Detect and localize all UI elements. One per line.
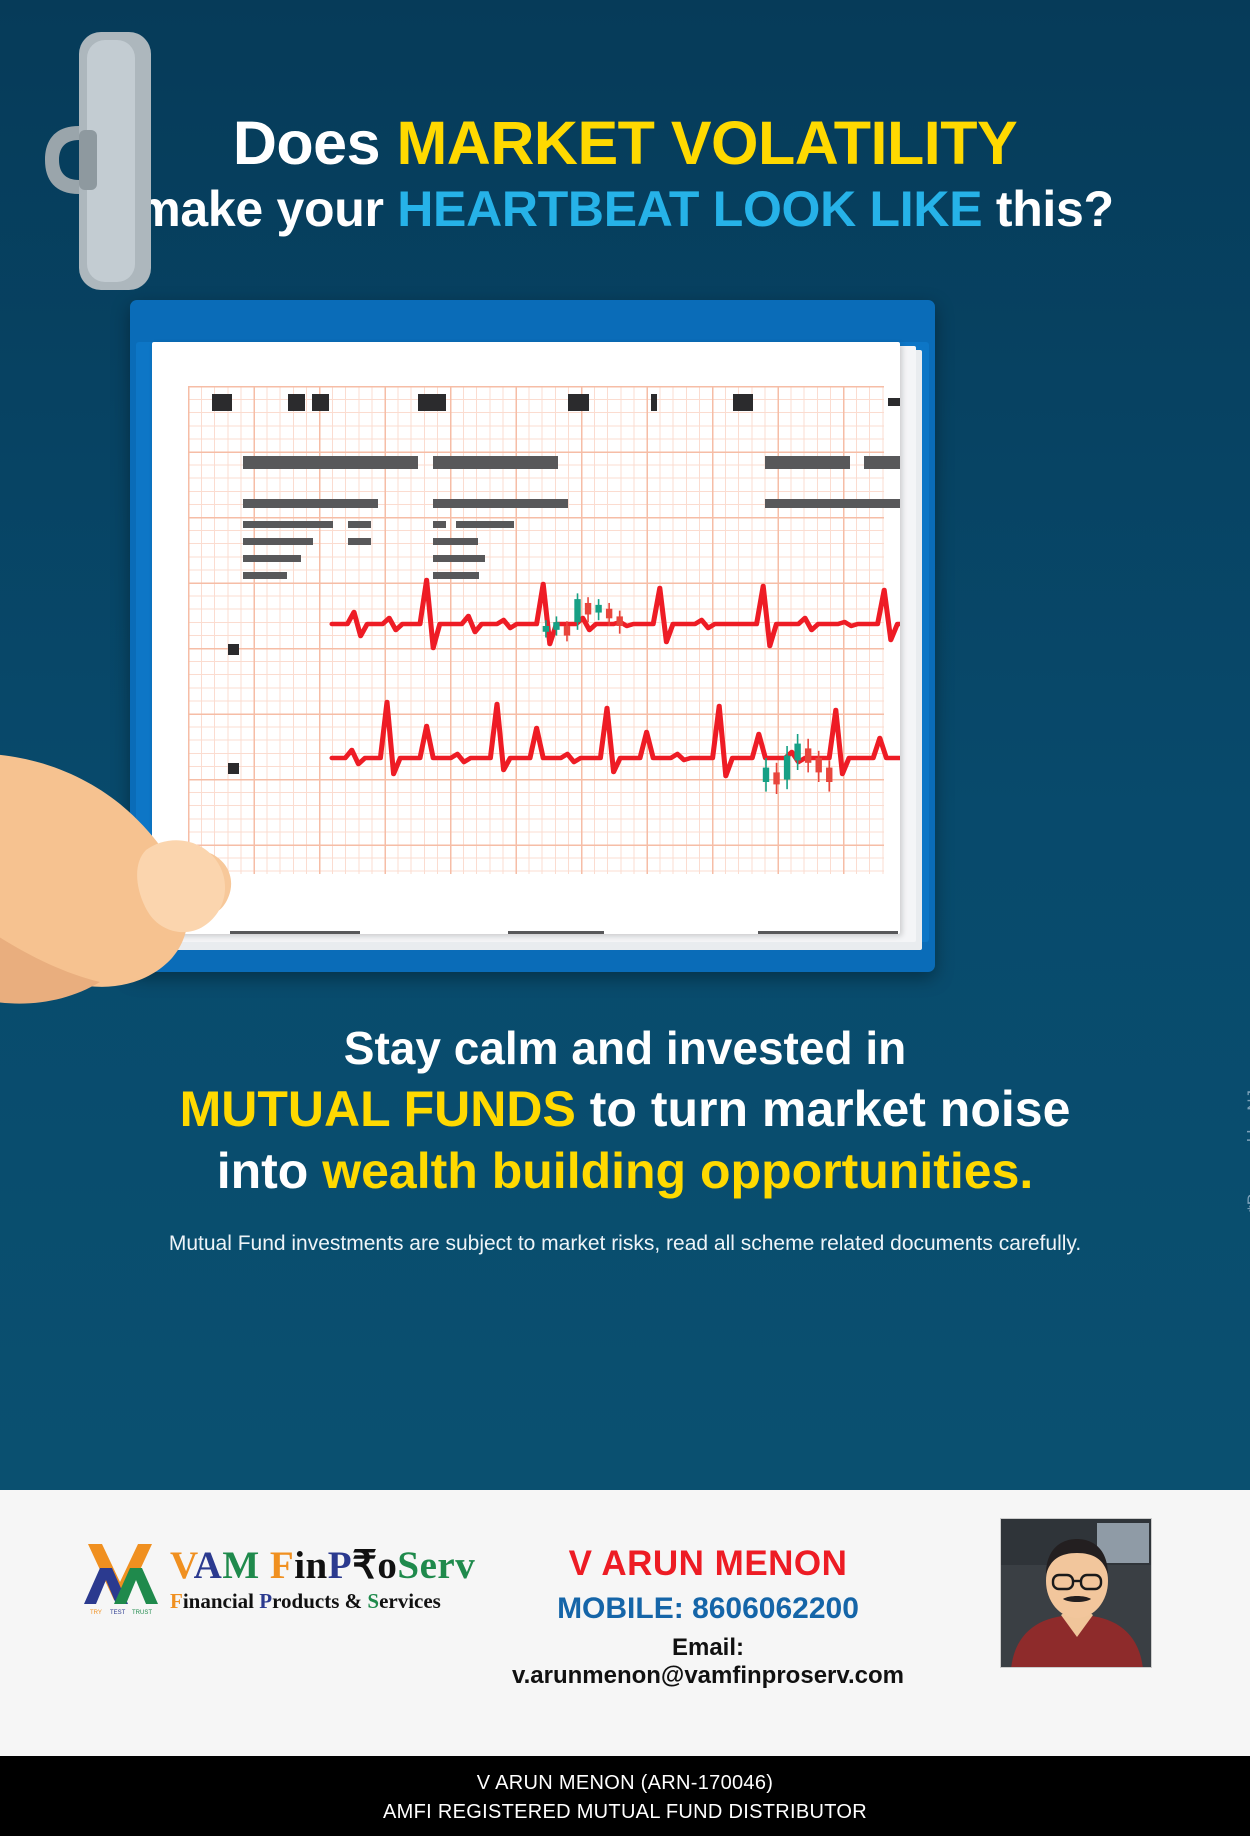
candlestick xyxy=(616,611,622,634)
headline-line-2-highlight: HEARTBEAT LOOK LIKE xyxy=(397,181,982,237)
tagline-line-2-highlight: MUTUAL FUNDS xyxy=(180,1081,576,1137)
candlestick-body xyxy=(574,599,580,622)
advisor-email[interactable]: Email: v.arunmenon@vamfinproserv.com xyxy=(498,1634,918,1690)
logo-subtitle: Financial Products & Services xyxy=(170,1591,475,1612)
tagline-line-3: into wealth building opportunities. xyxy=(0,1142,1250,1201)
candlestick-body xyxy=(616,616,622,626)
logo-tag-trust: TRUST xyxy=(132,1610,152,1616)
hand-svg xyxy=(0,470,290,1030)
logo-text: VAM FinP₹oServ Financial Products & Serv… xyxy=(170,1546,475,1612)
logo-tag-test: TEST xyxy=(110,1610,126,1616)
logo-row: TRY TEST TRUST VAM FinP₹oServ Financial … xyxy=(82,1542,482,1616)
headline-line-1: Does MARKET VOLATILITY xyxy=(0,112,1250,174)
email-label: Email: xyxy=(672,1634,744,1661)
hand-illustration xyxy=(0,470,290,1030)
headline-line-1-highlight: MARKET VOLATILITY xyxy=(396,109,1017,177)
footer-distributor-line: AMFI REGISTERED MUTUAL FUND DISTRIBUTOR xyxy=(0,1798,1250,1827)
candlestick-body xyxy=(543,626,549,632)
candlestick xyxy=(826,760,832,791)
company-logo[interactable]: TRY TEST TRUST VAM FinP₹oServ Financial … xyxy=(82,1542,482,1616)
candlestick xyxy=(773,763,779,794)
headline-line-2: make your HEARTBEAT LOOK LIKE this? xyxy=(0,184,1250,235)
headline-line-1-prefix: Does xyxy=(233,109,397,177)
ecg-trace-1 xyxy=(332,702,900,776)
tagline-line-2-suffix: to turn market noise xyxy=(576,1081,1071,1137)
clip-hinge xyxy=(79,130,97,190)
advisor-mobile[interactable]: MOBILE: 8606062200 xyxy=(498,1592,918,1626)
powered-by-label: *Powered by NJ xyxy=(1244,1090,1250,1212)
candlestick-body xyxy=(763,768,769,782)
poster-top-panel: Does MARKET VOLATILITY make your HEARTBE… xyxy=(0,0,1250,1490)
candlestick xyxy=(805,739,811,773)
advisor-name: V ARUN MENON xyxy=(498,1544,918,1584)
tagline-line-3-prefix: into xyxy=(217,1143,323,1199)
mobile-label: MOBILE: xyxy=(557,1592,692,1625)
advisor-photo-svg xyxy=(1001,1519,1152,1668)
risk-disclaimer: Mutual Fund investments are subject to m… xyxy=(0,1232,1250,1256)
clipboard-clip xyxy=(45,30,185,295)
candlestick-body xyxy=(784,756,790,780)
headline: Does MARKET VOLATILITY make your HEARTBE… xyxy=(0,112,1250,235)
footer-arn-line: V ARUN MENON (ARN-170046) xyxy=(0,1769,1250,1798)
vam-chevron-logo-icon: TRY TEST TRUST xyxy=(82,1542,160,1616)
candlestick-body xyxy=(826,768,832,782)
footer-registration-bar: V ARUN MENON (ARN-170046) AMFI REGISTERE… xyxy=(0,1756,1250,1836)
candlestick-body xyxy=(816,758,822,772)
email-address: v.arunmenon@vamfinproserv.com xyxy=(512,1662,904,1689)
candlestick-body xyxy=(553,622,559,630)
logo-tag-try: TRY xyxy=(90,1610,102,1616)
candlestick xyxy=(763,758,769,792)
ecg-trace-0 xyxy=(332,580,900,648)
headline-line-2-suffix: this? xyxy=(982,181,1114,237)
contact-details: V ARUN MENON MOBILE: 8606062200 Email: v… xyxy=(498,1544,918,1690)
candlestick xyxy=(794,734,800,770)
tagline-line-1: Stay calm and invested in xyxy=(0,1022,1250,1076)
mobile-number: 8606062200 xyxy=(692,1592,859,1625)
ecg-trace-path xyxy=(332,580,900,648)
candlestick-body xyxy=(564,626,570,636)
clip-svg xyxy=(45,30,185,295)
tagline-line-2: MUTUAL FUNDS to turn market noise xyxy=(0,1080,1250,1139)
candlestick-body xyxy=(606,609,612,619)
candlestick-body xyxy=(805,748,811,762)
candlestick-body xyxy=(585,603,591,615)
tagline-line-3-highlight: wealth building opportunities. xyxy=(322,1143,1033,1199)
ecg-trace-path xyxy=(332,702,900,776)
candlestick xyxy=(816,751,822,782)
candlestick-body xyxy=(773,772,779,784)
tagline: Stay calm and invested in MUTUAL FUNDS t… xyxy=(0,1022,1250,1201)
logo-name: VAM FinP₹oServ xyxy=(170,1546,475,1585)
ecg-traces xyxy=(332,580,900,776)
candlestick-body xyxy=(794,744,800,761)
candlestick xyxy=(595,599,601,620)
candlestick-body xyxy=(595,605,601,613)
advisor-photo xyxy=(1000,1518,1152,1668)
clip-lever xyxy=(45,126,79,194)
